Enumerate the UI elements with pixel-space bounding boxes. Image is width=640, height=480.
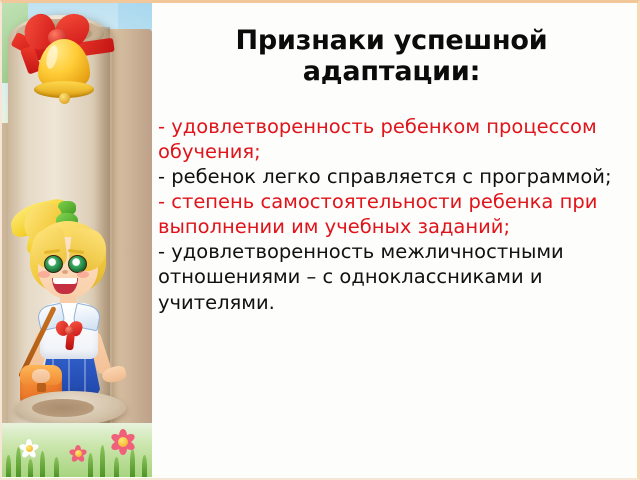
grass-blade <box>142 455 147 477</box>
flower-core <box>118 437 128 447</box>
grass-blade <box>88 453 93 477</box>
cheek-right <box>77 271 89 278</box>
hand-left <box>32 369 50 383</box>
grass-blade <box>114 457 119 477</box>
red-bow-tie <box>56 321 82 341</box>
teeth <box>53 278 77 284</box>
grass-blade <box>6 455 11 477</box>
flower-core <box>75 450 82 457</box>
flower-core <box>26 445 33 452</box>
bullet-item-4: - удовлетворенность межличностными отнош… <box>158 239 631 314</box>
grass-blade <box>28 459 33 477</box>
grass-strip <box>2 423 152 477</box>
illustration-panel <box>2 3 152 477</box>
bow-tie-tail <box>65 334 75 351</box>
slide: Признаки успешной адаптации: - удовлетво… <box>0 0 640 480</box>
content-panel: Признаки успешной адаптации: - удовлетво… <box>152 3 637 478</box>
bullet-item-3: - степень самостоятельности ребенка при … <box>158 189 631 239</box>
nose <box>62 270 68 274</box>
eye-left <box>44 255 63 273</box>
page-title: Признаки успешной адаптации: <box>152 3 637 88</box>
bow-tie-knot <box>65 326 74 335</box>
grass-blade <box>54 457 59 477</box>
scroll-base-opening <box>32 399 94 417</box>
satchel-clasp <box>37 383 46 392</box>
golden-bell-icon <box>34 37 94 109</box>
grass-blade <box>40 451 45 477</box>
bullet-list: - удовлетворенность ребенком процессом о… <box>152 88 637 315</box>
bullet-item-1: - удовлетворенность ребенком процессом о… <box>158 114 631 164</box>
bullet-item-2: - ребенок легко справляется с программой… <box>158 164 631 189</box>
flower-icon <box>110 429 136 455</box>
cheek-left <box>38 271 50 278</box>
grass-blade <box>100 445 105 477</box>
daisy-icon <box>20 439 40 459</box>
flower-icon <box>70 445 88 463</box>
bell-clapper <box>59 93 70 104</box>
